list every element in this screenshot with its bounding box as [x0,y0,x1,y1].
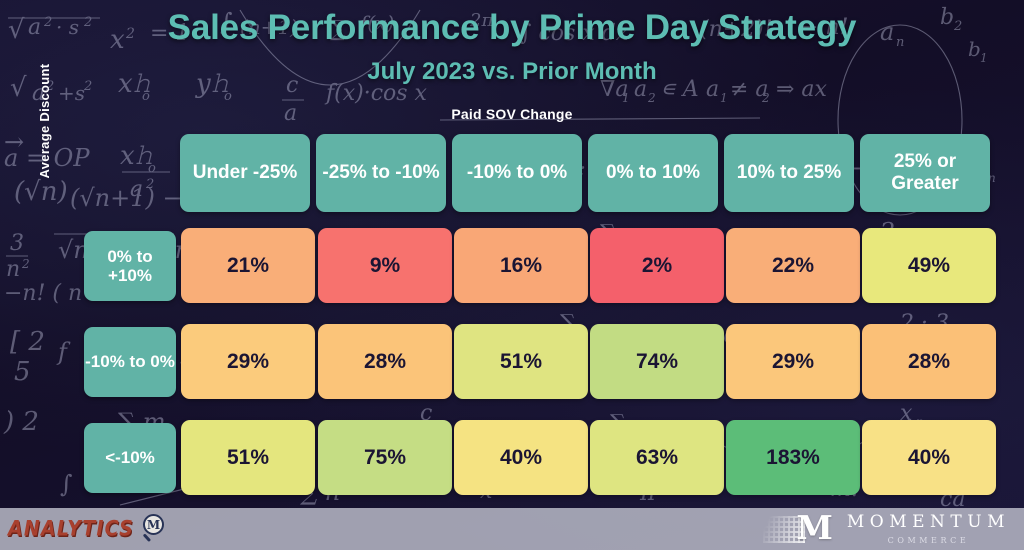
column-header-4: 10% to 25% [724,134,854,212]
heatmap-cell-r0c0: 21% [181,228,315,303]
heatmap-cell-r1c4: 29% [726,324,860,399]
heatmap-cell-r2c4: 183% [726,420,860,495]
magnifier-icon: M [141,514,167,544]
heatmap-cell-r1c0: 29% [181,324,315,399]
row-axis-label: Average Discount [31,0,59,256]
analytics-logo-text: ANALYTICS [8,517,134,542]
heatmap-cell-r2c5: 40% [862,420,996,495]
heatmap-cell-r0c1: 9% [318,228,452,303]
column-header-0: Under -25% [180,134,310,212]
magnifier-badge-letter: M [143,514,164,535]
heatmap-cell-r0c2: 16% [454,228,588,303]
row-header-0: 0% to +10% [84,231,176,301]
heatmap-cell-r0c4: 22% [726,228,860,303]
heatmap-cell-r0c5: 49% [862,228,996,303]
heatmap-cell-r2c3: 63% [590,420,724,495]
column-axis-label: Paid SOV Change [0,106,1024,122]
heatmap-cell-r2c2: 40% [454,420,588,495]
row-header-2: <-10% [84,423,176,493]
momentum-commerce-logo: M MOMENTUM COMMERCE [761,511,1010,547]
momentum-wordmark: MOMENTUM COMMERCE [847,512,1010,545]
momentum-subtitle: COMMERCE [847,536,1010,546]
momentum-logo-mark: M [761,512,833,546]
page-title: Sales Performance by Prime Day Strategy [0,8,1024,48]
heatmap-cell-r2c0: 51% [181,420,315,495]
column-header-2: -10% to 0% [452,134,582,212]
analytics-logo: ANALYTICS M [8,512,167,546]
column-header-5: 25% or Greater [860,134,990,212]
heatmap-cell-r1c5: 28% [862,324,996,399]
footer-bar: ANALYTICS M M MOMENTUM COMMERCE [0,508,1024,550]
heatmap-cell-r1c3: 74% [590,324,724,399]
column-header-1: -25% to -10% [316,134,446,212]
heatmap-cell-r1c2: 51% [454,324,588,399]
column-header-3: 0% to 10% [588,134,718,212]
row-header-1: -10% to 0% [84,327,176,397]
momentum-m-letter: M [796,511,833,545]
heatmap-cell-r2c1: 75% [318,420,452,495]
page-subtitle: July 2023 vs. Prior Month [0,58,1024,86]
heatmap-cell-r1c1: 28% [318,324,452,399]
heatmap-cell-r0c3: 2% [590,228,724,303]
momentum-name: MOMENTUM [847,512,1010,533]
